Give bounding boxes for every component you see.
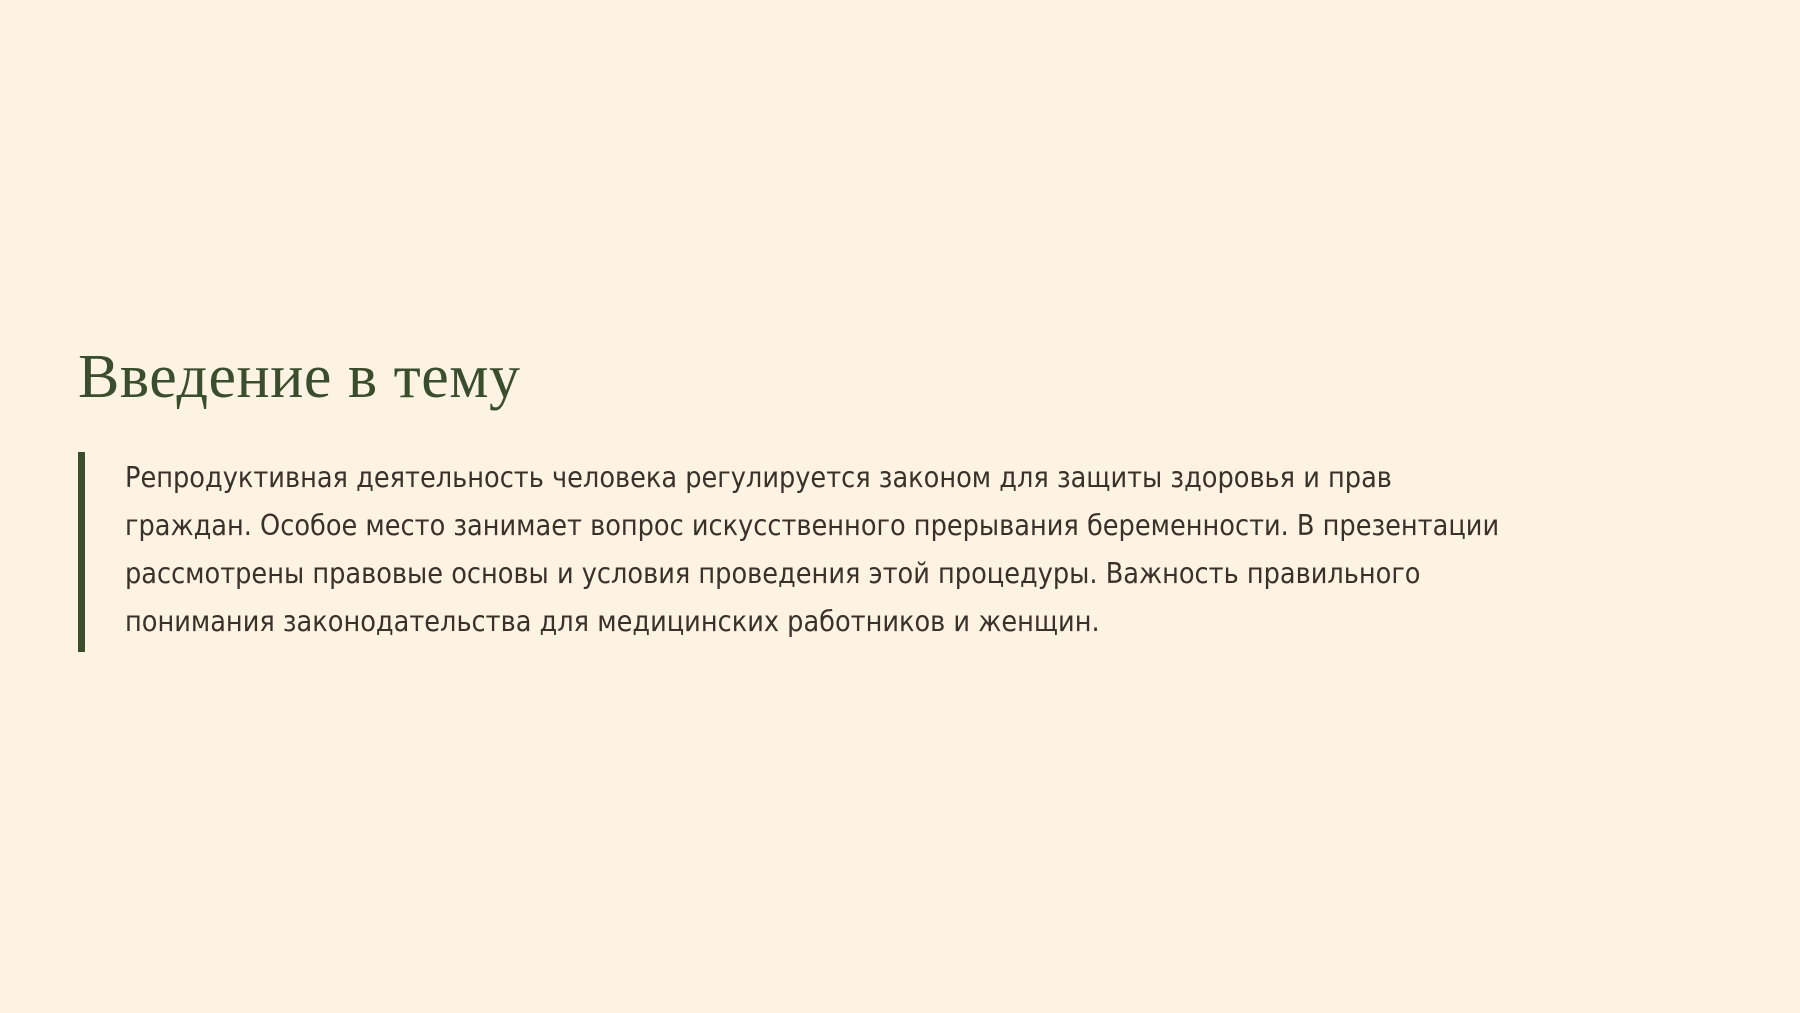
page-title: Введение в тему	[78, 345, 1718, 410]
accent-bar	[78, 452, 85, 652]
body-paragraph: Репродуктивная деятельность человека рег…	[125, 452, 1525, 652]
slide: Введение в тему Репродуктивная деятельно…	[0, 0, 1800, 1013]
body-block: Репродуктивная деятельность человека рег…	[78, 452, 1718, 652]
slide-content: Введение в тему Репродуктивная деятельно…	[78, 345, 1718, 652]
